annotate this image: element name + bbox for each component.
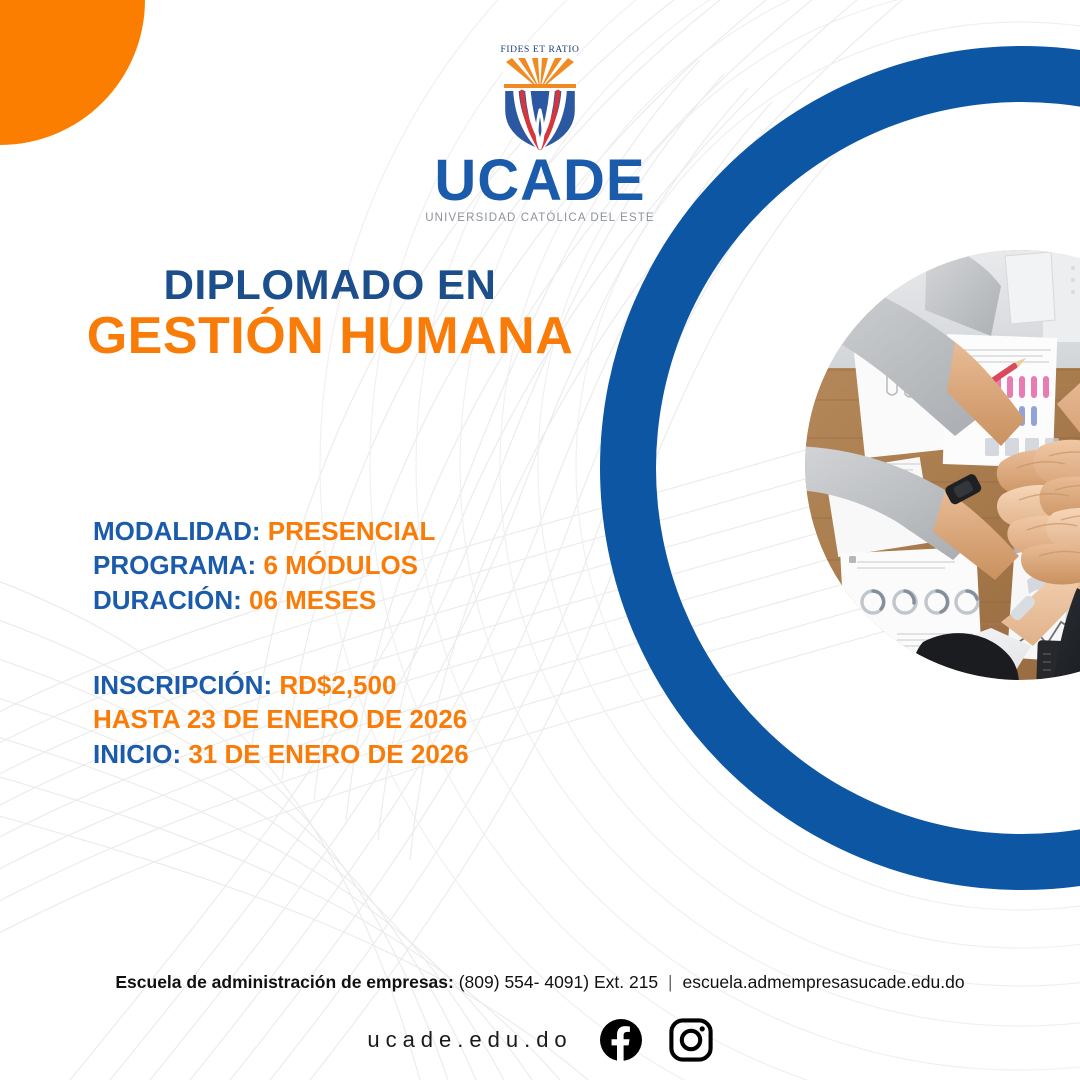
program-details-block: MODALIDAD: PRESENCIAL PROGRAMA: 6 MÓDULO… xyxy=(93,514,435,617)
svg-text:FIDES ET RATIO: FIDES ET RATIO xyxy=(501,45,580,55)
enrollment-details-block: INSCRIPCIÓN: RD$2,500 HASTA 23 DE ENERO … xyxy=(93,668,469,771)
footer-contact-line: Escuela de administración de empresas: (… xyxy=(0,972,1080,993)
detail-key-inicio: INICIO: xyxy=(93,739,181,769)
title-line-1: DIPLOMADO EN xyxy=(0,262,660,307)
ucade-wordmark: UCADE xyxy=(0,152,1080,210)
ucade-logo: FIDES ET RATIO xyxy=(0,40,1080,224)
detail-key-programa: PROGRAMA: xyxy=(93,550,256,580)
detail-value-duracion: 06 MESES xyxy=(249,585,376,615)
detail-key-duracion: DURACIÓN: xyxy=(93,585,242,615)
team-photo: 76% xyxy=(805,250,1080,680)
detail-key-modalidad: MODALIDAD: xyxy=(93,516,261,546)
detail-row-inicio: INICIO: 31 DE ENERO DE 2026 xyxy=(93,737,469,771)
detail-row-inscripcion: INSCRIPCIÓN: RD$2,500 xyxy=(93,668,469,702)
footer-email[interactable]: escuela.admempresasucade.edu.do xyxy=(682,972,964,992)
footer-phone: (809) 554- 4091) Ext. 215 xyxy=(459,972,658,992)
detail-key-inscripcion: INSCRIPCIÓN: xyxy=(93,670,272,700)
instagram-icon[interactable] xyxy=(669,1018,713,1062)
detail-value-programa: 6 MÓDULOS xyxy=(263,550,418,580)
detail-row-programa: PROGRAMA: 6 MÓDULOS xyxy=(93,548,435,582)
detail-row-duracion: DURACIÓN: 06 MESES xyxy=(93,583,435,617)
ucade-shield-icon: FIDES ET RATIO xyxy=(488,40,592,156)
ucade-tagline: UNIVERSIDAD CATÓLICA DEL ESTE xyxy=(0,212,1080,224)
page-title: DIPLOMADO EN GESTIÓN HUMANA xyxy=(0,262,660,366)
footer-separator: | xyxy=(663,972,678,992)
flyer-canvas: 76% xyxy=(0,0,1080,1080)
detail-row-modalidad: MODALIDAD: PRESENCIAL xyxy=(93,514,435,548)
footer-department-label: Escuela de administración de empresas: xyxy=(115,972,453,992)
footer-social-row: ucade.edu.do xyxy=(0,1018,1080,1062)
facebook-icon[interactable] xyxy=(599,1018,643,1062)
detail-value-modalidad: PRESENCIAL xyxy=(268,516,436,546)
detail-value-inscripcion: RD$2,500 xyxy=(279,670,396,700)
detail-value-hasta: HASTA 23 DE ENERO DE 2026 xyxy=(93,704,467,734)
detail-value-inicio: 31 DE ENERO DE 2026 xyxy=(188,739,468,769)
detail-row-hasta: HASTA 23 DE ENERO DE 2026 xyxy=(93,702,469,736)
title-line-2: GESTIÓN HUMANA xyxy=(0,307,660,365)
svg-text:76%: 76% xyxy=(857,629,887,646)
website-url[interactable]: ucade.edu.do xyxy=(367,1027,572,1053)
